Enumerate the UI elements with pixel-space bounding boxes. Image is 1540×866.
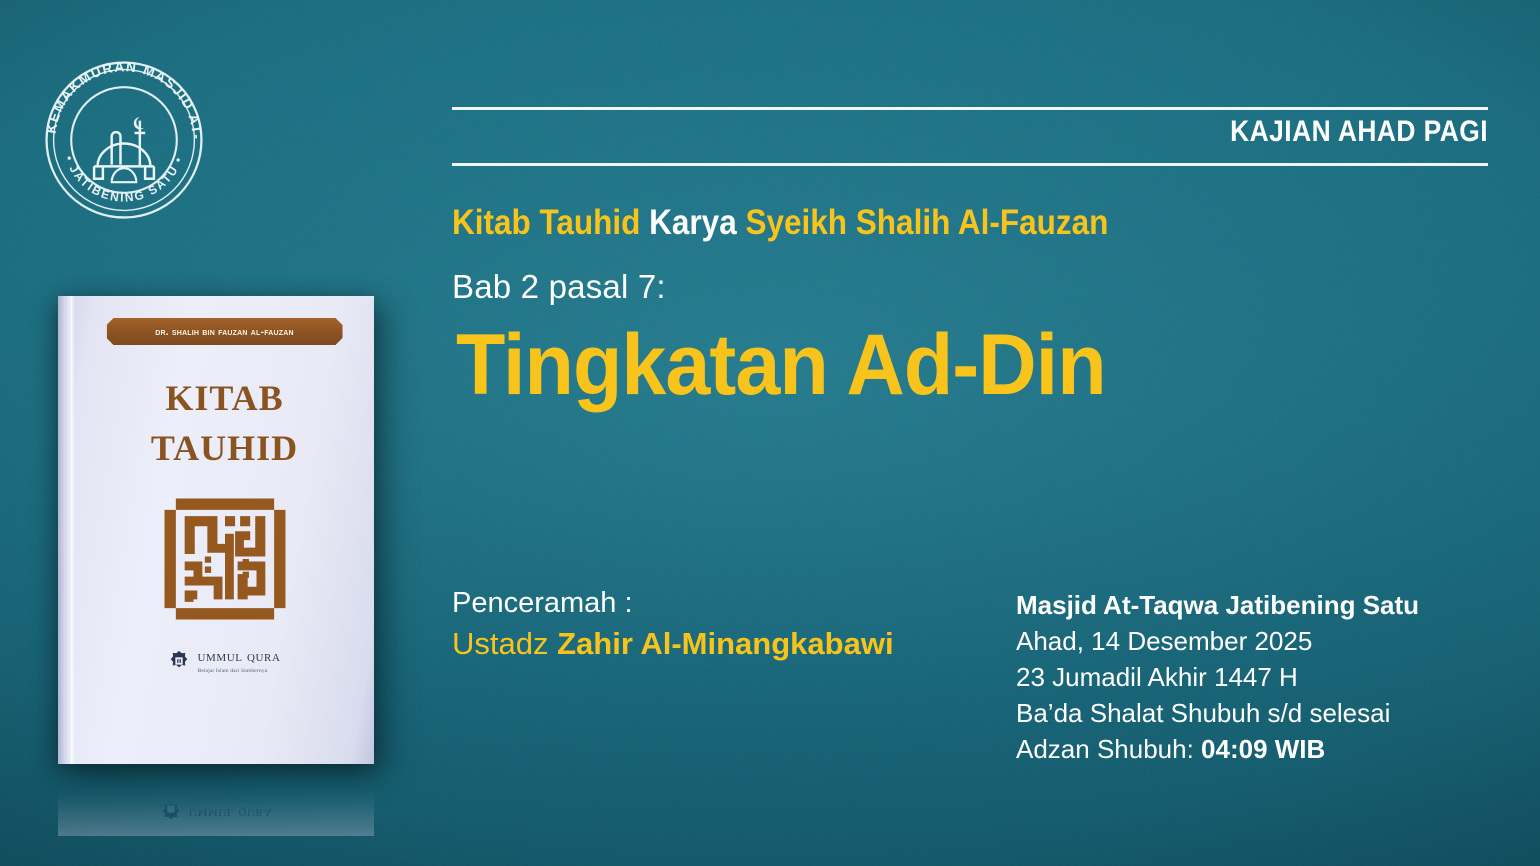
book-reflection: Ummul Qura Belajar Islam dari Sumbernya (58, 764, 374, 836)
book-title-line1: Kitab (89, 369, 360, 419)
poster-canvas: DEWAN KEMAKMURAN MASJID AT-TAQWA • JATIB… (0, 0, 1540, 866)
header-rule-top (452, 107, 1488, 110)
venue-place: Masjid At-Taqwa Jatibening Satu (1016, 588, 1419, 624)
svg-text:DEWAN KEMAKMURAN MASJID AT-TAQ: DEWAN KEMAKMURAN MASJID AT-TAQWA (36, 52, 205, 141)
headline: Kitab Tauhid Karya Syeikh Shalih Al-Fauz… (452, 203, 1108, 243)
venue-date-gregorian: Ahad, 14 Desember 2025 (1016, 624, 1419, 660)
speaker-label: Penceramah : (452, 585, 894, 623)
kufic-square-ornament (162, 496, 288, 622)
book-front-cover: Dr. Shalih bin Fauzan Al-Fauzan Kitab Ta… (58, 296, 374, 764)
publisher-text-block: Ummul Qura Belajar Islam dari Sumbernya (197, 648, 280, 674)
headline-book-title: Kitab Tauhid (452, 203, 640, 242)
publisher-tagline: Belajar Islam dari Sumbernya (197, 668, 280, 674)
chapter-subhead: Bab 2 pasal 7: (452, 268, 666, 306)
ummul-qura-logo-icon (168, 650, 190, 672)
speaker-block: Penceramah : Ustadz Zahir Al-Minangkabaw… (452, 585, 894, 665)
venue-adzan-label: Adzan Shubuh: (1016, 734, 1201, 764)
svg-text:• JATIBENING SATU •: • JATIBENING SATU • (62, 154, 186, 205)
reflection-logo-icon (160, 798, 182, 820)
book-title-line2: Tauhid (89, 419, 360, 469)
venue-adzan-time: 04:09 WIB (1201, 734, 1325, 764)
venue-date-hijri: 23 Jumadil Akhir 1447 H (1016, 660, 1419, 696)
reflection-publisher-tagline: Belajar Islam dari Sumbernya (189, 796, 272, 802)
reflection-publisher-name: Ummul Qura (189, 805, 272, 821)
venue-adzan-line: Adzan Shubuh: 04:09 WIB (1016, 732, 1419, 768)
speaker-name-line: Ustadz Zahir Al-Minangkabawi (452, 623, 894, 665)
book-spine (58, 296, 72, 764)
kicker-title: KAJIAN AHAD PAGI (1230, 115, 1488, 149)
book-publisher: Ummul Qura Belajar Islam dari Sumbernya (89, 648, 360, 674)
headline-connector: Karya (640, 203, 745, 242)
page-title: Tingkatan Ad-Din (456, 322, 1106, 408)
book-face: Dr. Shalih bin Fauzan Al-Fauzan Kitab Ta… (75, 296, 374, 764)
book-author-text: Dr. Shalih bin Fauzan Al-Fauzan (155, 326, 294, 338)
dkm-seal-logo: DEWAN KEMAKMURAN MASJID AT-TAQWA • JATIB… (36, 52, 212, 228)
header-rule-bottom (452, 163, 1488, 166)
book-author-banner: Dr. Shalih bin Fauzan Al-Fauzan (107, 318, 343, 345)
book-cover-image: Dr. Shalih bin Fauzan Al-Fauzan Kitab Ta… (46, 296, 386, 796)
publisher-name: Ummul Qura (197, 649, 280, 665)
speaker-honorific: Ustadz (452, 626, 557, 661)
venue-time-note: Ba’da Shalat Shubuh s/d selesai (1016, 696, 1419, 732)
venue-block: Masjid At-Taqwa Jatibening Satu Ahad, 14… (1016, 588, 1419, 767)
headline-author: Syeikh Shalih Al-Fauzan (745, 203, 1108, 242)
speaker-name: Zahir Al-Minangkabawi (557, 626, 893, 661)
book-title: Kitab Tauhid (89, 369, 360, 470)
